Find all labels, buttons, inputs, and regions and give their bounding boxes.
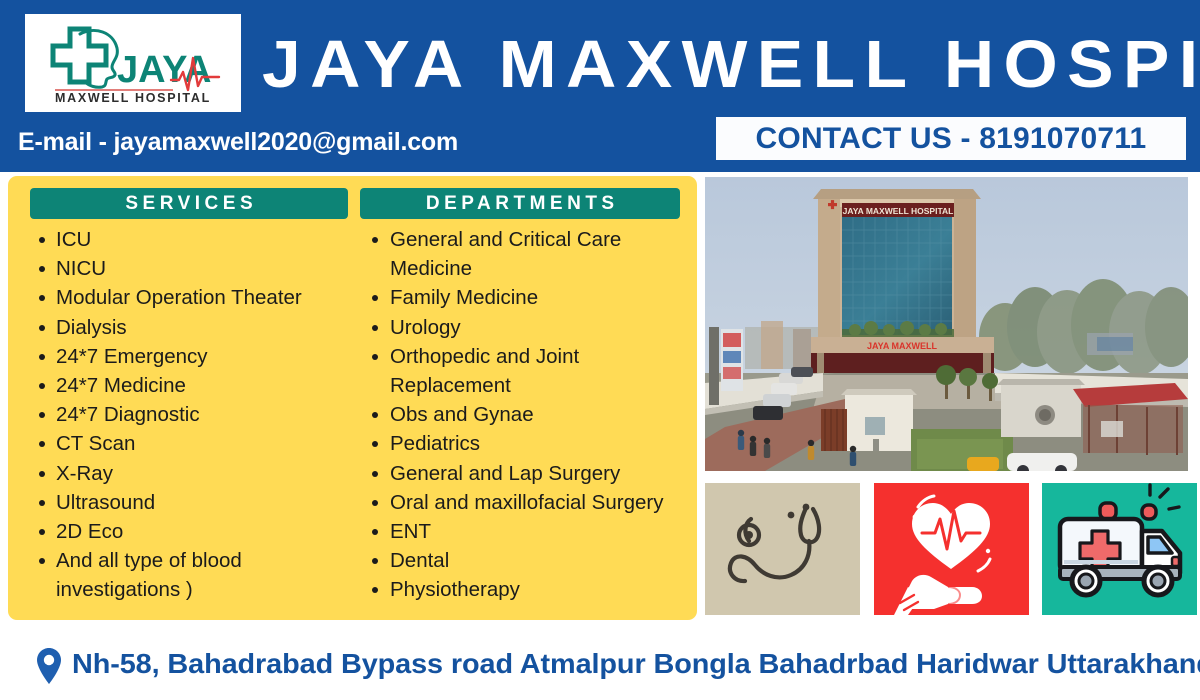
building-photo-graphic: JAYA MAXWELL HOSPITAL JAYA MAXWELL (705, 177, 1188, 471)
list-item: NICU (34, 254, 348, 283)
heart-in-hand-icon (874, 483, 1029, 615)
list-item: Physiotherapy (364, 575, 680, 604)
list-item: ENT (364, 517, 680, 546)
hospital-logo: JAYA MAXWELL HOSPITAL (25, 14, 241, 112)
list-item: Dialysis (34, 313, 348, 342)
address-text: Nh-58, Bahadrabad Bypass road Atmalpur B… (72, 648, 1200, 680)
list-item: 24*7 Diagnostic (34, 400, 348, 429)
list-item: Dental (364, 546, 680, 575)
departments-column: DEPARTMENTS General and Critical Care Me… (360, 188, 680, 605)
email-text: E-mail - jayamaxwell2020@gmail.com (18, 128, 458, 157)
building-canopy-sign-text: JAYA MAXWELL (867, 341, 938, 351)
heart-in-hand-icon-tile (874, 483, 1029, 615)
list-item: X-Ray (34, 459, 348, 488)
services-departments-panel: SERVICES ICU NICU Modular Operation Thea… (8, 176, 697, 620)
list-item: Ultrasound (34, 488, 348, 517)
list-item: 24*7 Emergency (34, 342, 348, 371)
list-item: CT Scan (34, 429, 348, 458)
building-top-sign-text: JAYA MAXWELL HOSPITAL (843, 206, 954, 216)
list-item: ICU (34, 225, 348, 254)
list-item: Obs and Gynae (364, 400, 680, 429)
list-item: 2D Eco (34, 517, 348, 546)
address-footer: Nh-58, Bahadrabad Bypass road Atmalpur B… (0, 640, 1200, 692)
list-item: Pediatrics (364, 429, 680, 458)
services-heading-banner: SERVICES (30, 188, 348, 219)
list-item: And all type of blood investigations ) (34, 546, 348, 604)
list-item: 24*7 Medicine (34, 371, 348, 400)
svg-text:MAXWELL HOSPITAL: MAXWELL HOSPITAL (55, 91, 211, 105)
list-item: Family Medicine (364, 283, 680, 312)
list-item: General and Lap Surgery (364, 459, 680, 488)
departments-heading-banner: DEPARTMENTS (360, 188, 680, 219)
list-item: Modular Operation Theater (34, 283, 348, 312)
list-item: Urology (364, 313, 680, 342)
contact-us-box[interactable]: CONTACT US - 8191070711 (716, 117, 1186, 160)
contact-us-text: CONTACT US - 8191070711 (756, 122, 1147, 156)
stethoscope-icon (705, 483, 860, 615)
hospital-building-photo: JAYA MAXWELL HOSPITAL JAYA MAXWELL (705, 177, 1188, 471)
ambulance-icon-tile (1042, 483, 1197, 615)
departments-list: General and Critical Care Medicine Famil… (360, 225, 680, 605)
page-title: JAYA MAXWELL HOSPITAL (262, 22, 1200, 108)
header-banner: JAYA MAXWELL HOSPITAL JAYA MAXWELL HOSPI… (0, 0, 1200, 172)
location-pin-icon (36, 647, 62, 685)
list-item: General and Critical Care Medicine (364, 225, 680, 283)
services-heading-text: SERVICES (121, 193, 257, 215)
hospital-flyer: JAYA MAXWELL HOSPITAL JAYA MAXWELL HOSPI… (0, 0, 1200, 700)
services-column: SERVICES ICU NICU Modular Operation Thea… (30, 188, 348, 605)
ambulance-icon (1042, 483, 1197, 615)
logo-mark-icon: JAYA MAXWELL HOSPITAL (33, 20, 233, 106)
stethoscope-icon-tile (705, 483, 860, 615)
departments-heading-text: DEPARTMENTS (421, 193, 618, 215)
list-item: Oral and maxillofacial Surgery (364, 488, 680, 517)
services-list: ICU NICU Modular Operation Theater Dialy… (30, 225, 348, 605)
list-item: Orthopedic and Joint Replacement (364, 342, 680, 400)
